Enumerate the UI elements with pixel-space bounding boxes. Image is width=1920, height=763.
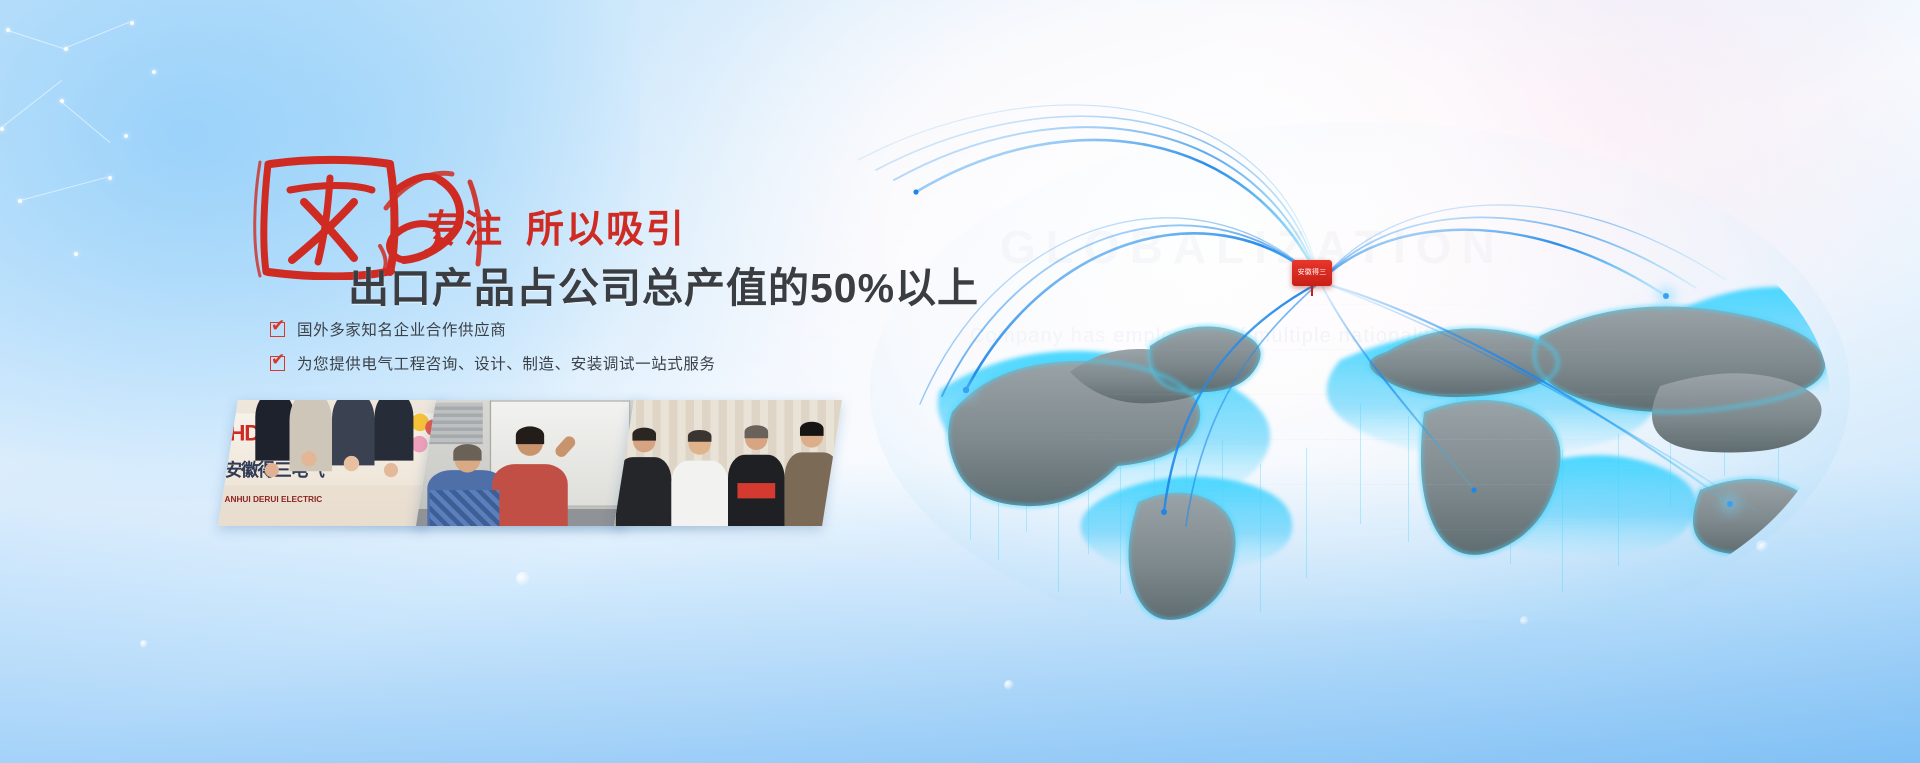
marker-label: 安徽得三 — [1292, 260, 1332, 286]
hero-copy: 专注所以吸引 出口产品占公司总产值的50%以上 ✔ 国外多家知名企业合作供应商 … — [230, 150, 930, 280]
photo-card-team-group[interactable] — [614, 400, 842, 526]
red-headline: 专注所以吸引 — [424, 198, 686, 253]
photo-card-expo-booth[interactable]: HDRG 安徽得三电气 ANHUI DERUI ELECTRIC — [218, 400, 446, 526]
bokeh-circle-1 — [516, 572, 530, 586]
engineers-inspecting-cabinet-photo — [416, 400, 644, 526]
bullet-text: 为您提供电气工程咨询、设计、制造、安装调试一站式服务 — [297, 352, 716, 374]
marker-stick — [1311, 286, 1313, 296]
red-headline-part1: 专注 — [424, 209, 504, 251]
checkbox-checked-icon: ✔ — [270, 322, 285, 337]
bullet-item: ✔ 国外多家知名企业合作供应商 — [270, 318, 716, 340]
hex-grid-overlay — [910, 260, 1920, 620]
globe-region: GLOBALIZATION Company has employees of m… — [820, 60, 1920, 620]
bokeh-circle-2 — [1004, 680, 1014, 690]
gray-headline: 出口产品占公司总产值的50%以上 — [348, 254, 979, 314]
bullet-item: ✔ 为您提供电气工程咨询、设计、制造、安装调试一站式服务 — [270, 352, 716, 374]
red-headline-part2: 所以吸引 — [526, 209, 686, 251]
checkbox-checked-icon: ✔ — [270, 356, 285, 371]
feature-bullet-list: ✔ 国外多家知名企业合作供应商 ✔ 为您提供电气工程咨询、设计、制造、安装调试一… — [270, 318, 716, 386]
bokeh-circle-5 — [140, 640, 148, 648]
photo-card-engineers-cabinet[interactable] — [416, 400, 644, 526]
hero-banner: GLOBALIZATION Company has employees of m… — [0, 0, 1920, 763]
photo-strip: HDRG 安徽得三电气 ANHUI DERUI ELECTRIC — [228, 400, 848, 530]
brush-calligraphy-row: 专注所以吸引 出口产品占公司总产值的50%以上 — [230, 150, 930, 280]
team-group-photo — [614, 400, 842, 526]
expo-booth-group-photo: HDRG 安徽得三电气 ANHUI DERUI ELECTRIC — [218, 400, 446, 526]
bullet-text: 国外多家知名企业合作供应商 — [297, 318, 506, 340]
china-location-marker: 安徽得三 — [1292, 260, 1332, 294]
